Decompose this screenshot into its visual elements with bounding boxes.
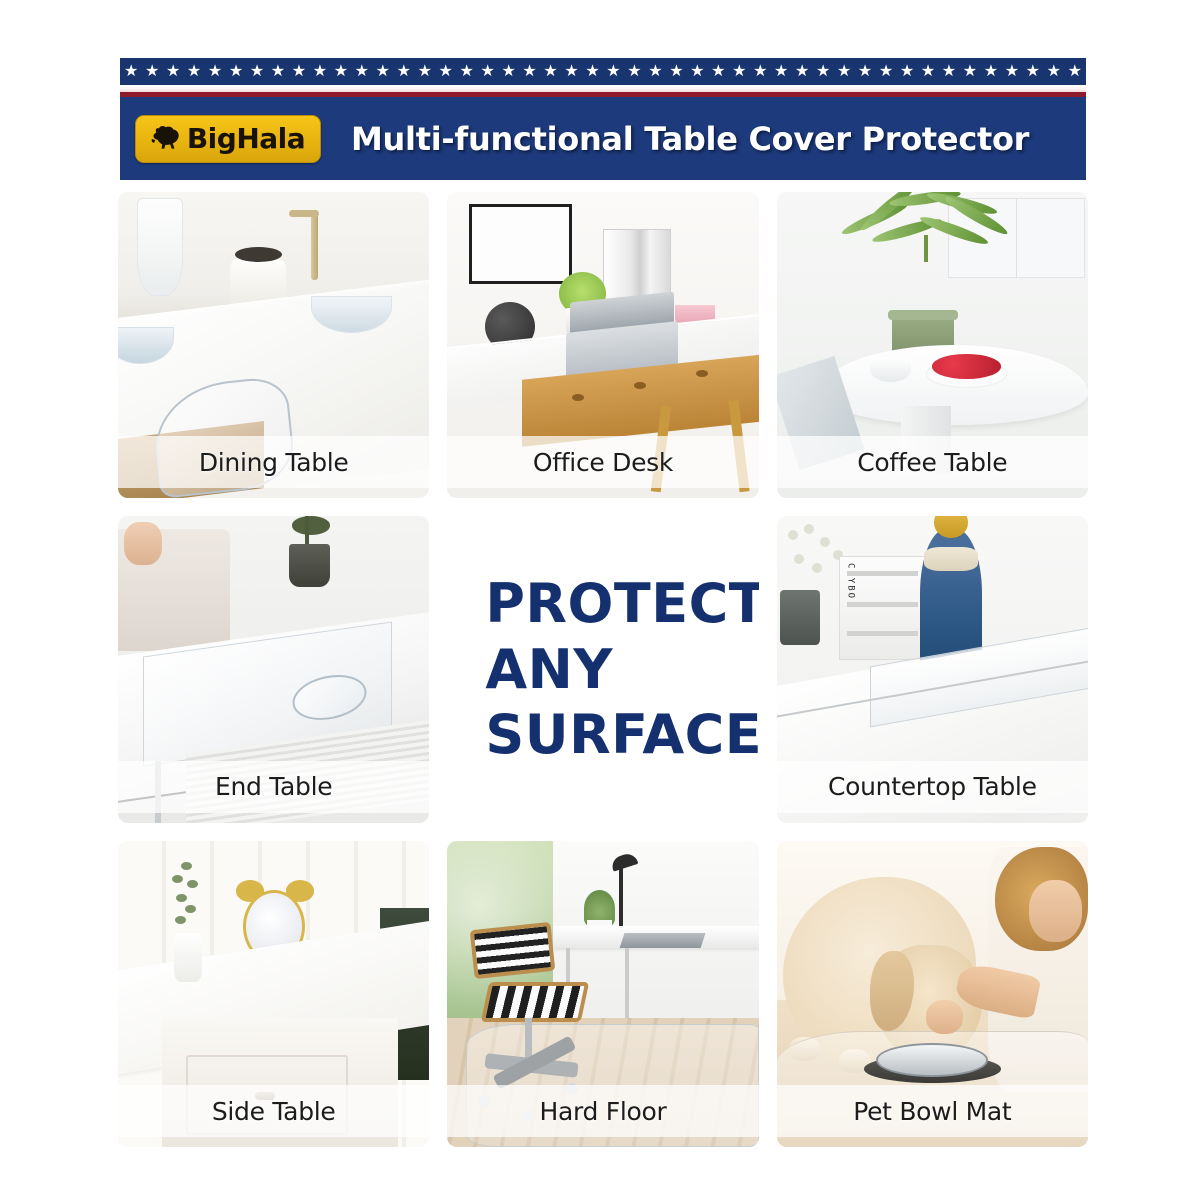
- header-body: BigHala Multi-functional Table Cover Pro…: [120, 97, 1086, 180]
- caption-band: Hard Floor: [447, 1085, 758, 1137]
- callout-line-3: SURFACE: [485, 702, 758, 768]
- star-icon: ★: [145, 64, 159, 80]
- star-icon: ★: [250, 64, 264, 80]
- star-icon: ★: [648, 64, 662, 80]
- star-icon: ★: [669, 64, 683, 80]
- caption-band: Pet Bowl Mat: [777, 1085, 1088, 1137]
- star-icon: ★: [522, 64, 536, 80]
- star-icon: ★: [313, 64, 327, 80]
- star-icon: ★: [900, 64, 914, 80]
- star-icon: ★: [837, 64, 851, 80]
- star-icon: ★: [187, 64, 201, 80]
- tile-dining-table[interactable]: Dining Table: [118, 192, 429, 498]
- star-icon: ★: [984, 64, 998, 80]
- tile-caption: Dining Table: [199, 448, 349, 477]
- tile-coffee-table[interactable]: Coffee Table: [777, 192, 1088, 498]
- callout-line-1: PROTECT: [485, 571, 758, 637]
- tile-office-desk[interactable]: Office Desk: [447, 192, 758, 498]
- star-icon: ★: [858, 64, 872, 80]
- tile-countertop-table[interactable]: CHYBO Countertop Table: [777, 516, 1088, 822]
- tile-caption: Coffee Table: [857, 448, 1007, 477]
- tile-caption: Pet Bowl Mat: [853, 1097, 1011, 1126]
- caption-band: End Table: [118, 761, 429, 813]
- caption-band: Side Table: [118, 1085, 429, 1137]
- star-icon: ★: [942, 64, 956, 80]
- star-icon: ★: [480, 64, 494, 80]
- star-icon: ★: [1026, 64, 1040, 80]
- callout-line-2: ANY: [485, 637, 758, 703]
- star-icon: ★: [376, 64, 390, 80]
- star-icon: ★: [543, 64, 557, 80]
- tile-caption: Side Table: [212, 1097, 336, 1126]
- star-icon: ★: [1047, 64, 1061, 80]
- tile-callout: PROTECT ANY SURFACE: [447, 516, 758, 822]
- tile-caption: Hard Floor: [540, 1097, 667, 1126]
- callout-block: PROTECT ANY SURFACE: [447, 516, 758, 822]
- flower-sprig: [168, 859, 212, 939]
- star-icon: ★: [606, 64, 620, 80]
- star-icon: ★: [795, 64, 809, 80]
- star-icon: ★: [166, 64, 180, 80]
- tile-hard-floor[interactable]: Hard Floor: [447, 841, 758, 1147]
- caption-band: Office Desk: [447, 436, 758, 488]
- star-strip: ★★★★★★★★★★★★★★★★★★★★★★★★★★★★★★★★★★★★★★★★…: [120, 58, 1086, 85]
- star-icon: ★: [439, 64, 453, 80]
- star-icon: ★: [208, 64, 222, 80]
- star-icon: ★: [1068, 64, 1082, 80]
- star-icon: ★: [229, 64, 243, 80]
- star-icon: ★: [460, 64, 474, 80]
- star-icon: ★: [816, 64, 830, 80]
- tile-end-table[interactable]: End Table: [118, 516, 429, 822]
- caption-band: Dining Table: [118, 436, 429, 488]
- star-icon: ★: [627, 64, 641, 80]
- star-icon: ★: [774, 64, 788, 80]
- brand-logo-text: BigHala: [187, 125, 305, 153]
- star-icon: ★: [271, 64, 285, 80]
- white-stripe: [120, 85, 1086, 92]
- star-icon: ★: [355, 64, 369, 80]
- star-icon: ★: [732, 64, 746, 80]
- star-icon: ★: [334, 64, 348, 80]
- use-case-grid: Dining Table Office Desk: [118, 192, 1088, 1147]
- caption-band: Countertop Table: [777, 761, 1088, 813]
- star-icon: ★: [124, 64, 138, 80]
- tile-caption: Countertop Table: [828, 772, 1037, 801]
- gorilla-icon: [151, 125, 185, 153]
- tile-side-table[interactable]: Side Table: [118, 841, 429, 1147]
- star-icon: ★: [711, 64, 725, 80]
- star-icon: ★: [501, 64, 515, 80]
- tile-pet-bowl-mat[interactable]: Pet Bowl Mat: [777, 841, 1088, 1147]
- star-icon: ★: [585, 64, 599, 80]
- star-icon: ★: [963, 64, 977, 80]
- star-icon: ★: [879, 64, 893, 80]
- tile-caption: End Table: [215, 772, 332, 801]
- star-icon: ★: [397, 64, 411, 80]
- tile-caption: Office Desk: [533, 448, 673, 477]
- header-banner: ★★★★★★★★★★★★★★★★★★★★★★★★★★★★★★★★★★★★★★★★…: [120, 58, 1086, 180]
- star-icon: ★: [564, 64, 578, 80]
- brand-logo: BigHala: [135, 115, 321, 163]
- star-icon: ★: [1005, 64, 1019, 80]
- star-icon: ★: [418, 64, 432, 80]
- magazine-rack: CHYBO: [839, 556, 926, 660]
- fern-plant: [839, 198, 1020, 321]
- caption-band: Coffee Table: [777, 436, 1088, 488]
- page-title: Multi-functional Table Cover Protector: [351, 120, 1029, 158]
- star-icon: ★: [921, 64, 935, 80]
- star-icon: ★: [753, 64, 767, 80]
- star-icon: ★: [292, 64, 306, 80]
- star-icon: ★: [690, 64, 704, 80]
